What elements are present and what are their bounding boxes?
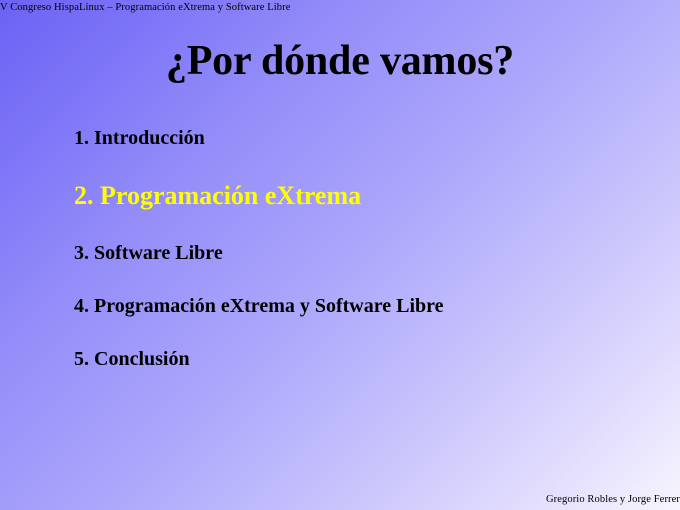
slide-running-header: V Congreso HispaLinux – Programación eXt… bbox=[0, 1, 291, 14]
agenda-item-3: 3. Software Libre bbox=[74, 241, 654, 265]
agenda-item-2: 2. Programación eXtrema bbox=[74, 180, 654, 211]
agenda-item-5: 5. Conclusión bbox=[74, 347, 654, 371]
slide-footer-authors: Gregorio Robles y Jorge Ferrer bbox=[546, 493, 680, 506]
agenda-item-4: 4. Programación eXtrema y Software Libre bbox=[74, 294, 654, 318]
agenda-list: 1. Introducción 2. Programación eXtrema … bbox=[74, 126, 654, 371]
presentation-slide: V Congreso HispaLinux – Programación eXt… bbox=[0, 0, 680, 510]
slide-title: ¿Por dónde vamos? bbox=[0, 36, 680, 86]
agenda-item-1: 1. Introducción bbox=[74, 126, 654, 150]
